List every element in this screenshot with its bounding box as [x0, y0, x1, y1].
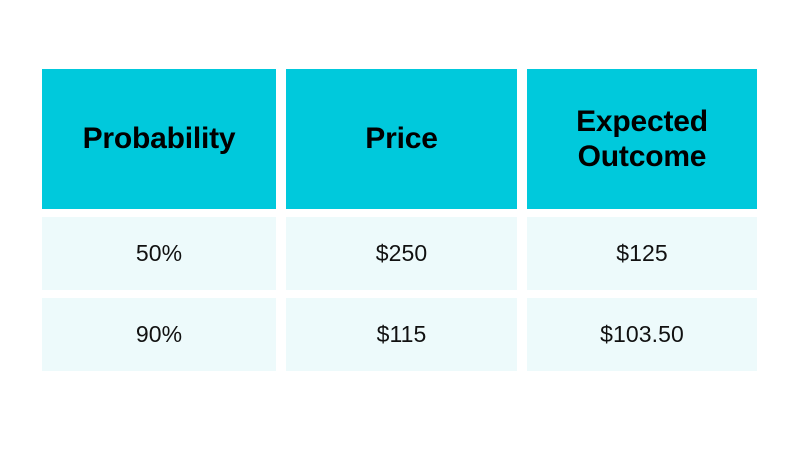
cell-price-value: $115: [377, 321, 427, 349]
column-header-probability-label: Probability: [83, 121, 236, 156]
cell-expected-outcome: $125: [527, 217, 757, 290]
cell-expected-outcome-value: $103.50: [600, 321, 684, 349]
column-header-price: Price: [286, 69, 517, 209]
cell-expected-outcome: $103.50: [527, 298, 757, 371]
screenshot-canvas: Probability Price Expected Outcome 50% $…: [0, 0, 800, 450]
table-header-row: Probability Price Expected Outcome: [42, 69, 757, 209]
cell-expected-outcome-value: $125: [616, 240, 668, 268]
cell-price: $250: [286, 217, 517, 290]
table-row: 90% $115 $103.50: [42, 298, 757, 371]
cell-probability: 50%: [42, 217, 276, 290]
cell-probability-value: 50%: [136, 240, 182, 268]
cell-probability-value: 90%: [136, 321, 182, 349]
column-header-expected-outcome: Expected Outcome: [527, 69, 757, 209]
column-header-probability: Probability: [42, 69, 276, 209]
expected-outcome-table: Probability Price Expected Outcome 50% $…: [42, 69, 757, 371]
table-row: 50% $250 $125: [42, 217, 757, 290]
column-header-expected-outcome-label: Expected Outcome: [576, 104, 708, 175]
column-header-price-label: Price: [365, 121, 437, 156]
cell-price: $115: [286, 298, 517, 371]
cell-price-value: $250: [376, 240, 428, 268]
cell-probability: 90%: [42, 298, 276, 371]
